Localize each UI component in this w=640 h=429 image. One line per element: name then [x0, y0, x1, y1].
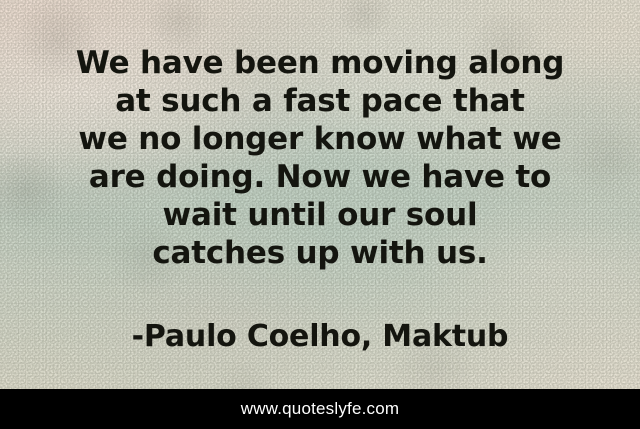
- quote-attribution: -Paulo Coelho, Maktub: [20, 318, 620, 356]
- quote-image-card: We have been moving along at such a fast…: [0, 0, 640, 429]
- quote-text: We have been moving along at such a fast…: [20, 44, 620, 272]
- footer-website-url: www.quoteslyfe.com: [241, 399, 400, 419]
- footer-watermark-bar: www.quoteslyfe.com: [0, 389, 640, 429]
- quote-content-area: We have been moving along at such a fast…: [0, 0, 640, 389]
